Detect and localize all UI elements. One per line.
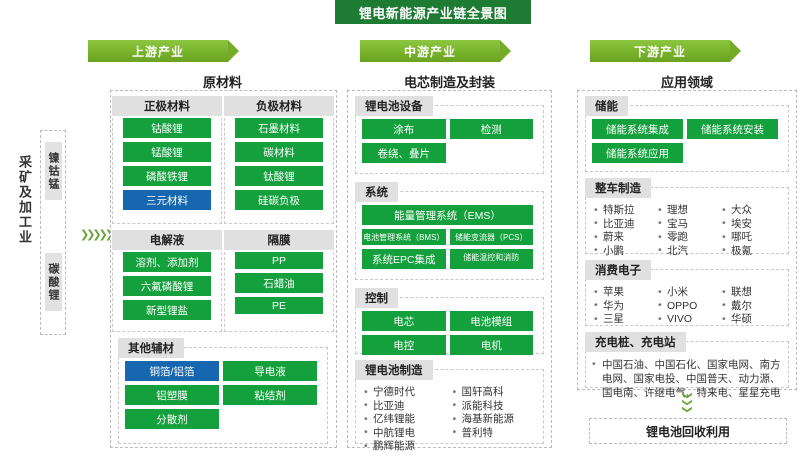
chip-cathode-1[interactable]: 锰酸锂 (123, 142, 211, 162)
list-item: 哪吒 (720, 231, 784, 245)
group-title-cathode: 正极材料 (112, 96, 222, 116)
chip-auxiliary-3[interactable]: 粘结剂 (223, 385, 317, 405)
group-electrolyte: 电解液 溶剂、添加剂 六氟磷酸锂 新型锂盐 (112, 230, 222, 332)
flow-arrow-down-icon: ❯❯❯ (680, 392, 694, 413)
chip-electrolyte-0[interactable]: 溶剂、添加剂 (123, 252, 211, 272)
chip-separator-2[interactable]: PE (235, 297, 323, 314)
group-vehicle-manufacturing: 整车制造 特斯拉 比亚迪 蔚来 小鹏 理想 宝马 零跑 北汽 大众 埃安 哪吒 … (579, 178, 795, 254)
electronics-column-3: 联想 戴尔 华硕 (720, 286, 784, 327)
banner-upstream: 上游产业 (88, 40, 228, 62)
chip-cathode-0[interactable]: 钴酸锂 (123, 118, 211, 138)
chip-lithium-carbonate: 碳酸锂 (45, 253, 62, 311)
group-title-energy-storage: 储能 (585, 96, 628, 116)
manufacturer-column-1: 宁德时代 比亚迪 亿纬锂能 中航锂电 鹏辉能源 (362, 386, 451, 454)
list-item: 小鹏 (592, 245, 656, 259)
chip-electrolyte-2[interactable]: 新型锂盐 (123, 300, 211, 320)
group-auxiliary-materials: 其他辅材 铜箔/铝箔 导电液 铝塑膜 粘结剂 分散剂 (112, 338, 334, 444)
list-item: 比亚迪 (362, 400, 451, 414)
vehicle-column-2: 理想 宝马 零跑 北汽 (656, 204, 720, 258)
list-item: 小米 (656, 286, 720, 300)
flow-arrow-right-icon: ❯❯❯❯❯ (80, 228, 111, 241)
group-title-control: 控制 (355, 288, 398, 308)
list-item: 埃安 (720, 218, 784, 232)
group-title-manufacturers: 锂电池制造 (355, 360, 433, 380)
group-title-equipment: 锂电池设备 (355, 96, 433, 116)
list-item: 鹏辉能源 (362, 440, 451, 454)
group-title-separator: 隔膜 (224, 230, 334, 250)
chip-system-ems[interactable]: 能量管理系统（EMS） (362, 205, 533, 225)
chip-nickel-cobalt-manganese: 镍钴锰 (45, 142, 62, 200)
list-item: 派能科技 (451, 400, 540, 414)
chip-separator-0[interactable]: PP (235, 252, 323, 269)
group-charging-stations: 充电桩、充电站 中国石油、中国石化、国家电网、南方电网、国家电投、中国普天、动力… (579, 332, 795, 388)
group-system: 系统 能量管理系统（EMS） 电池管理系统（BMS） 储能变流器（PCS） 系统… (349, 182, 550, 280)
list-item: 亿纬锂能 (362, 413, 451, 427)
list-item: 宝马 (656, 218, 720, 232)
list-item: 特斯拉 (592, 204, 656, 218)
electronics-column-1: 苹果 华为 三星 (592, 286, 656, 327)
chip-auxiliary-2[interactable]: 铝塑膜 (125, 385, 219, 405)
banner-midstream: 中游产业 (360, 40, 500, 62)
list-item: 比亚迪 (592, 218, 656, 232)
group-title-auxiliary: 其他辅材 (118, 338, 184, 358)
chip-anode-1[interactable]: 碳材料 (235, 142, 323, 162)
group-energy-storage: 储能 储能系统集成 储能系统安装 储能系统应用 (579, 96, 795, 172)
heading-cell-manufacturing: 电芯制造及封装 (347, 72, 552, 91)
group-consumer-electronics: 消费电子 苹果 华为 三星 小米 OPPO VIVO 联想 戴尔 华硕 (579, 260, 795, 326)
list-item: 中航锂电 (362, 427, 451, 441)
list-item: 戴尔 (720, 300, 784, 314)
list-item: 国轩高科 (451, 386, 540, 400)
chip-cathode-2[interactable]: 磷酸铁锂 (123, 166, 211, 186)
chip-control-3[interactable]: 电机 (450, 335, 534, 355)
list-item: 华硕 (720, 313, 784, 327)
lithium-battery-industry-chain-infographic: { "title": "锂电新能源产业链全景图", "banners": [ {… (0, 0, 800, 454)
chip-anode-2[interactable]: 钛酸锂 (235, 166, 323, 186)
chip-equipment-0[interactable]: 涂布 (362, 119, 446, 139)
group-title-system: 系统 (355, 182, 398, 202)
manufacturer-column-2: 国轩高科 派能科技 海基新能源 普利特 (451, 386, 540, 454)
chip-auxiliary-0[interactable]: 铜箔/铝箔 (125, 361, 219, 381)
chip-system-pcs[interactable]: 储能变流器（PCS） (450, 229, 534, 245)
group-separator: 隔膜 PP 石蜡油 PE (224, 230, 334, 332)
chip-separator-1[interactable]: 石蜡油 (235, 273, 323, 293)
list-item: 华为 (592, 300, 656, 314)
chip-anode-3[interactable]: 硅碳负极 (235, 190, 323, 210)
chip-control-2[interactable]: 电控 (362, 335, 446, 355)
list-item: VIVO (656, 313, 720, 327)
chip-cathode-3[interactable]: 三元材料 (123, 190, 211, 210)
group-title-consumer-electronics: 消费电子 (585, 260, 651, 280)
chip-system-thermal-fire[interactable]: 储能温控和消防 (450, 249, 534, 269)
chip-auxiliary-1[interactable]: 导电液 (223, 361, 317, 381)
battery-recycling-box: 锂电池回收利用 (589, 418, 787, 444)
chip-ess-1[interactable]: 储能系统安装 (687, 119, 778, 139)
vehicle-column-3: 大众 埃安 哪吒 极氪 (720, 204, 784, 258)
group-battery-equipment: 锂电池设备 涂布 检测 卷绕、叠片 (349, 96, 550, 174)
list-item: 宁德时代 (362, 386, 451, 400)
chip-system-epc[interactable]: 系统EPC集成 (362, 249, 446, 269)
list-item: 三星 (592, 313, 656, 327)
chip-system-bms[interactable]: 电池管理系统（BMS） (362, 229, 446, 245)
list-item: 联想 (720, 286, 784, 300)
group-title-electrolyte: 电解液 (112, 230, 222, 250)
electronics-column-2: 小米 OPPO VIVO (656, 286, 720, 327)
group-battery-manufacturers: 锂电池制造 宁德时代 比亚迪 亿纬锂能 中航锂电 鹏辉能源 国轩高科 派能科技 … (349, 360, 550, 444)
chip-control-1[interactable]: 电池模组 (450, 311, 534, 331)
list-item: 零跑 (656, 231, 720, 245)
list-item: 理想 (656, 204, 720, 218)
chip-ess-2[interactable]: 储能系统应用 (592, 143, 683, 163)
page-title: 锂电新能源产业链全景图 (335, 0, 531, 24)
banner-downstream: 下游产业 (590, 40, 730, 62)
list-item: 北汽 (656, 245, 720, 259)
chip-ess-0[interactable]: 储能系统集成 (592, 119, 683, 139)
list-item: 极氪 (720, 245, 784, 259)
list-item: 蔚来 (592, 231, 656, 245)
vehicle-column-1: 特斯拉 比亚迪 蔚来 小鹏 (592, 204, 656, 258)
heading-raw-materials: 原材料 (110, 72, 335, 91)
list-item: 大众 (720, 204, 784, 218)
list-item: 海基新能源 (451, 413, 540, 427)
list-item: 苹果 (592, 286, 656, 300)
group-control: 控制 电芯 电池模组 电控 电机 (349, 288, 550, 354)
list-item: 普利特 (451, 427, 540, 441)
chip-control-0[interactable]: 电芯 (362, 311, 446, 331)
chip-equipment-1[interactable]: 检测 (450, 119, 534, 139)
chip-auxiliary-4[interactable]: 分散剂 (125, 409, 219, 429)
group-anode-materials: 负极材料 石墨材料 碳材料 钛酸锂 硅碳负极 (224, 96, 334, 224)
chip-anode-0[interactable]: 石墨材料 (235, 118, 323, 138)
group-title-anode: 负极材料 (224, 96, 334, 116)
group-title-charging: 充电桩、充电站 (585, 332, 686, 352)
group-title-vehicles: 整车制造 (585, 178, 651, 198)
list-item: OPPO (656, 300, 720, 314)
chip-equipment-2[interactable]: 卷绕、叠片 (362, 143, 446, 163)
chip-electrolyte-1[interactable]: 六氟磷酸锂 (123, 276, 211, 296)
group-cathode-materials: 正极材料 钴酸锂 锰酸锂 磷酸铁锂 三元材料 (112, 96, 222, 224)
heading-applications: 应用领域 (577, 72, 797, 91)
mining-processing-label: 采矿及加工业 (10, 155, 32, 245)
